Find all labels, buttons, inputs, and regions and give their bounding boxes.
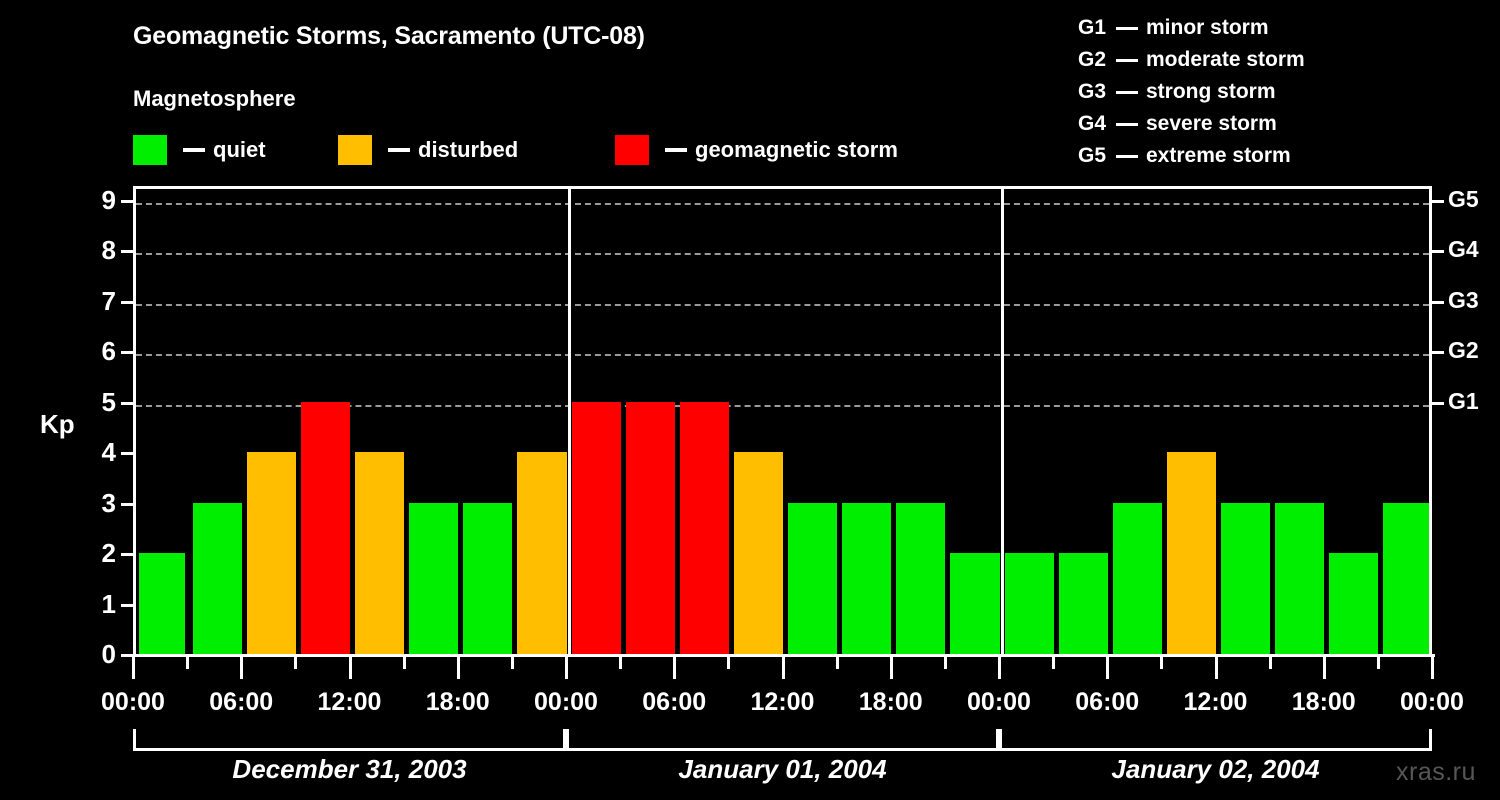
right-tick-label-g5: G5 bbox=[1448, 188, 1479, 211]
x-tick-minor bbox=[619, 657, 622, 669]
x-tick-major bbox=[782, 657, 785, 679]
right-tick-label-g1: G1 bbox=[1448, 390, 1479, 413]
gscale-desc-g3: strong storm bbox=[1146, 80, 1276, 104]
bar bbox=[1329, 553, 1378, 654]
right-tick-label-g4: G4 bbox=[1448, 238, 1479, 261]
bar bbox=[301, 402, 350, 655]
gscale-dash-icon bbox=[1116, 123, 1138, 126]
x-tick-major bbox=[673, 657, 676, 679]
bar bbox=[1005, 553, 1054, 654]
gridline-kp-7 bbox=[136, 304, 1429, 306]
y-tick-mark bbox=[121, 301, 133, 304]
bar bbox=[1113, 503, 1162, 655]
right-tick-label-g3: G3 bbox=[1448, 289, 1479, 312]
key-item-storm: geomagnetic storm bbox=[615, 134, 898, 166]
key-swatch-quiet-icon bbox=[133, 135, 167, 165]
gridline-kp-6 bbox=[136, 354, 1429, 356]
right-tick-mark bbox=[1432, 200, 1444, 203]
y-axis-title: Kp bbox=[40, 409, 75, 440]
gscale-legend-row-g2: G2moderate storm bbox=[1078, 44, 1305, 76]
y-tick-label-4: 4 bbox=[88, 439, 116, 465]
right-tick-label-g2: G2 bbox=[1448, 339, 1479, 362]
y-tick-mark bbox=[121, 503, 133, 506]
watermark: xras.ru bbox=[1396, 758, 1476, 787]
y-tick-mark bbox=[121, 604, 133, 607]
x-tick-major bbox=[240, 657, 243, 679]
section-label: Magnetosphere bbox=[133, 86, 296, 112]
bar bbox=[950, 553, 999, 654]
x-tick-major bbox=[890, 657, 893, 679]
x-tick-major bbox=[1215, 657, 1218, 679]
gscale-code-g5: G5 bbox=[1078, 144, 1108, 168]
right-tick-mark bbox=[1432, 301, 1444, 304]
y-tick-mark bbox=[121, 402, 133, 405]
bar bbox=[193, 503, 242, 655]
x-tick-major bbox=[349, 657, 352, 679]
x-tick-minor bbox=[1377, 657, 1380, 669]
gridline-kp-8 bbox=[136, 253, 1429, 255]
gscale-desc-g4: severe storm bbox=[1146, 112, 1277, 136]
x-tick-minor bbox=[511, 657, 514, 669]
x-tick-major bbox=[565, 657, 568, 679]
bar bbox=[1167, 452, 1216, 654]
key-dash-icon bbox=[665, 148, 687, 152]
x-tick-minor bbox=[403, 657, 406, 669]
gscale-code-g4: G4 bbox=[1078, 112, 1108, 136]
page-title: Geomagnetic Storms, Sacramento (UTC-08) bbox=[133, 22, 645, 51]
key-swatch-storm-icon bbox=[615, 135, 649, 165]
gridline-kp-9 bbox=[136, 203, 1429, 205]
bar bbox=[896, 503, 945, 655]
bar bbox=[139, 553, 185, 654]
gscale-dash-icon bbox=[1116, 91, 1138, 94]
y-tick-label-8: 8 bbox=[88, 237, 116, 263]
gscale-desc-g1: minor storm bbox=[1146, 16, 1269, 40]
x-axis-label: 00:00 bbox=[101, 688, 165, 717]
chart-root: Geomagnetic Storms, Sacramento (UTC-08) … bbox=[0, 0, 1500, 800]
x-axis-label: 12:00 bbox=[751, 688, 815, 717]
bar bbox=[842, 503, 891, 655]
bar bbox=[680, 402, 729, 655]
day-bracket bbox=[133, 729, 566, 751]
x-tick-major bbox=[457, 657, 460, 679]
x-tick-major bbox=[1106, 657, 1109, 679]
bar bbox=[1221, 503, 1270, 655]
bar bbox=[409, 503, 458, 655]
gscale-code-g2: G2 bbox=[1078, 48, 1108, 72]
x-axis-label: 00:00 bbox=[1400, 688, 1464, 717]
day-divider bbox=[1001, 189, 1004, 654]
x-axis-label: 18:00 bbox=[1292, 688, 1356, 717]
gscale-desc-g5: extreme storm bbox=[1146, 144, 1291, 168]
gscale-code-g3: G3 bbox=[1078, 80, 1108, 104]
y-tick-label-1: 1 bbox=[88, 591, 116, 617]
x-tick-minor bbox=[1160, 657, 1163, 669]
y-tick-label-2: 2 bbox=[88, 540, 116, 566]
y-tick-label-7: 7 bbox=[88, 288, 116, 314]
x-axis-label: 00:00 bbox=[534, 688, 598, 717]
key-dash-icon bbox=[388, 148, 410, 152]
y-tick-label-3: 3 bbox=[88, 490, 116, 516]
key-item-disturbed: disturbed bbox=[338, 134, 518, 166]
y-tick-mark bbox=[121, 200, 133, 203]
x-axis-label: 06:00 bbox=[642, 688, 706, 717]
y-tick-label-5: 5 bbox=[88, 389, 116, 415]
x-tick-minor bbox=[1269, 657, 1272, 669]
y-tick-label-9: 9 bbox=[88, 187, 116, 213]
gscale-dash-icon bbox=[1116, 27, 1138, 30]
x-axis-label: 12:00 bbox=[1184, 688, 1248, 717]
y-tick-label-6: 6 bbox=[88, 338, 116, 364]
key-label-storm: geomagnetic storm bbox=[695, 137, 898, 163]
gscale-dash-icon bbox=[1116, 155, 1138, 158]
day-bracket bbox=[566, 729, 999, 751]
x-tick-major bbox=[1431, 657, 1434, 679]
key-label-quiet: quiet bbox=[213, 137, 266, 163]
bar bbox=[788, 503, 837, 655]
x-axis-label: 18:00 bbox=[859, 688, 923, 717]
gscale-legend-row-g3: G3strong storm bbox=[1078, 76, 1305, 108]
bar bbox=[1275, 503, 1324, 655]
right-tick-mark bbox=[1432, 402, 1444, 405]
gscale-desc-g2: moderate storm bbox=[1146, 48, 1305, 72]
gscale-dash-icon bbox=[1116, 59, 1138, 62]
y-tick-mark bbox=[121, 553, 133, 556]
x-tick-major bbox=[998, 657, 1001, 679]
bar bbox=[1383, 503, 1429, 655]
day-divider bbox=[568, 189, 571, 654]
day-label: December 31, 2003 bbox=[232, 754, 466, 785]
key-swatch-disturbed-icon bbox=[338, 135, 372, 165]
x-axis-label: 06:00 bbox=[1075, 688, 1139, 717]
plot-area bbox=[136, 189, 1429, 654]
g-scale-legend: G1minor stormG2moderate stormG3strong st… bbox=[1078, 12, 1305, 172]
plot-frame bbox=[133, 186, 1432, 654]
gscale-legend-row-g5: G5extreme storm bbox=[1078, 140, 1305, 172]
x-tick-minor bbox=[294, 657, 297, 669]
x-tick-minor bbox=[944, 657, 947, 669]
gscale-code-g1: G1 bbox=[1078, 16, 1108, 40]
y-tick-mark bbox=[121, 250, 133, 253]
x-tick-minor bbox=[727, 657, 730, 669]
x-axis-label: 00:00 bbox=[967, 688, 1031, 717]
right-tick-mark bbox=[1432, 250, 1444, 253]
x-tick-major bbox=[132, 657, 135, 679]
x-tick-minor bbox=[186, 657, 189, 669]
day-label: January 02, 2004 bbox=[1111, 754, 1319, 785]
key-item-quiet: quiet bbox=[133, 134, 266, 166]
day-label: January 01, 2004 bbox=[678, 754, 886, 785]
bar bbox=[1059, 553, 1108, 654]
x-tick-major bbox=[1323, 657, 1326, 679]
bar bbox=[355, 452, 404, 654]
bar bbox=[247, 452, 296, 654]
bar bbox=[517, 452, 566, 654]
x-axis-label: 18:00 bbox=[426, 688, 490, 717]
bar bbox=[734, 452, 783, 654]
key-dash-icon bbox=[183, 148, 205, 152]
x-axis-label: 06:00 bbox=[209, 688, 273, 717]
day-bracket bbox=[999, 729, 1432, 751]
gscale-legend-row-g1: G1minor storm bbox=[1078, 12, 1305, 44]
bar bbox=[572, 402, 621, 655]
bar bbox=[626, 402, 675, 655]
gscale-legend-row-g4: G4severe storm bbox=[1078, 108, 1305, 140]
x-axis-label: 12:00 bbox=[318, 688, 382, 717]
right-tick-mark bbox=[1432, 351, 1444, 354]
y-tick-label-0: 0 bbox=[88, 641, 116, 667]
x-tick-minor bbox=[836, 657, 839, 669]
y-tick-mark bbox=[121, 351, 133, 354]
y-tick-mark bbox=[121, 452, 133, 455]
key-label-disturbed: disturbed bbox=[418, 137, 518, 163]
x-tick-minor bbox=[1052, 657, 1055, 669]
bar bbox=[463, 503, 512, 655]
